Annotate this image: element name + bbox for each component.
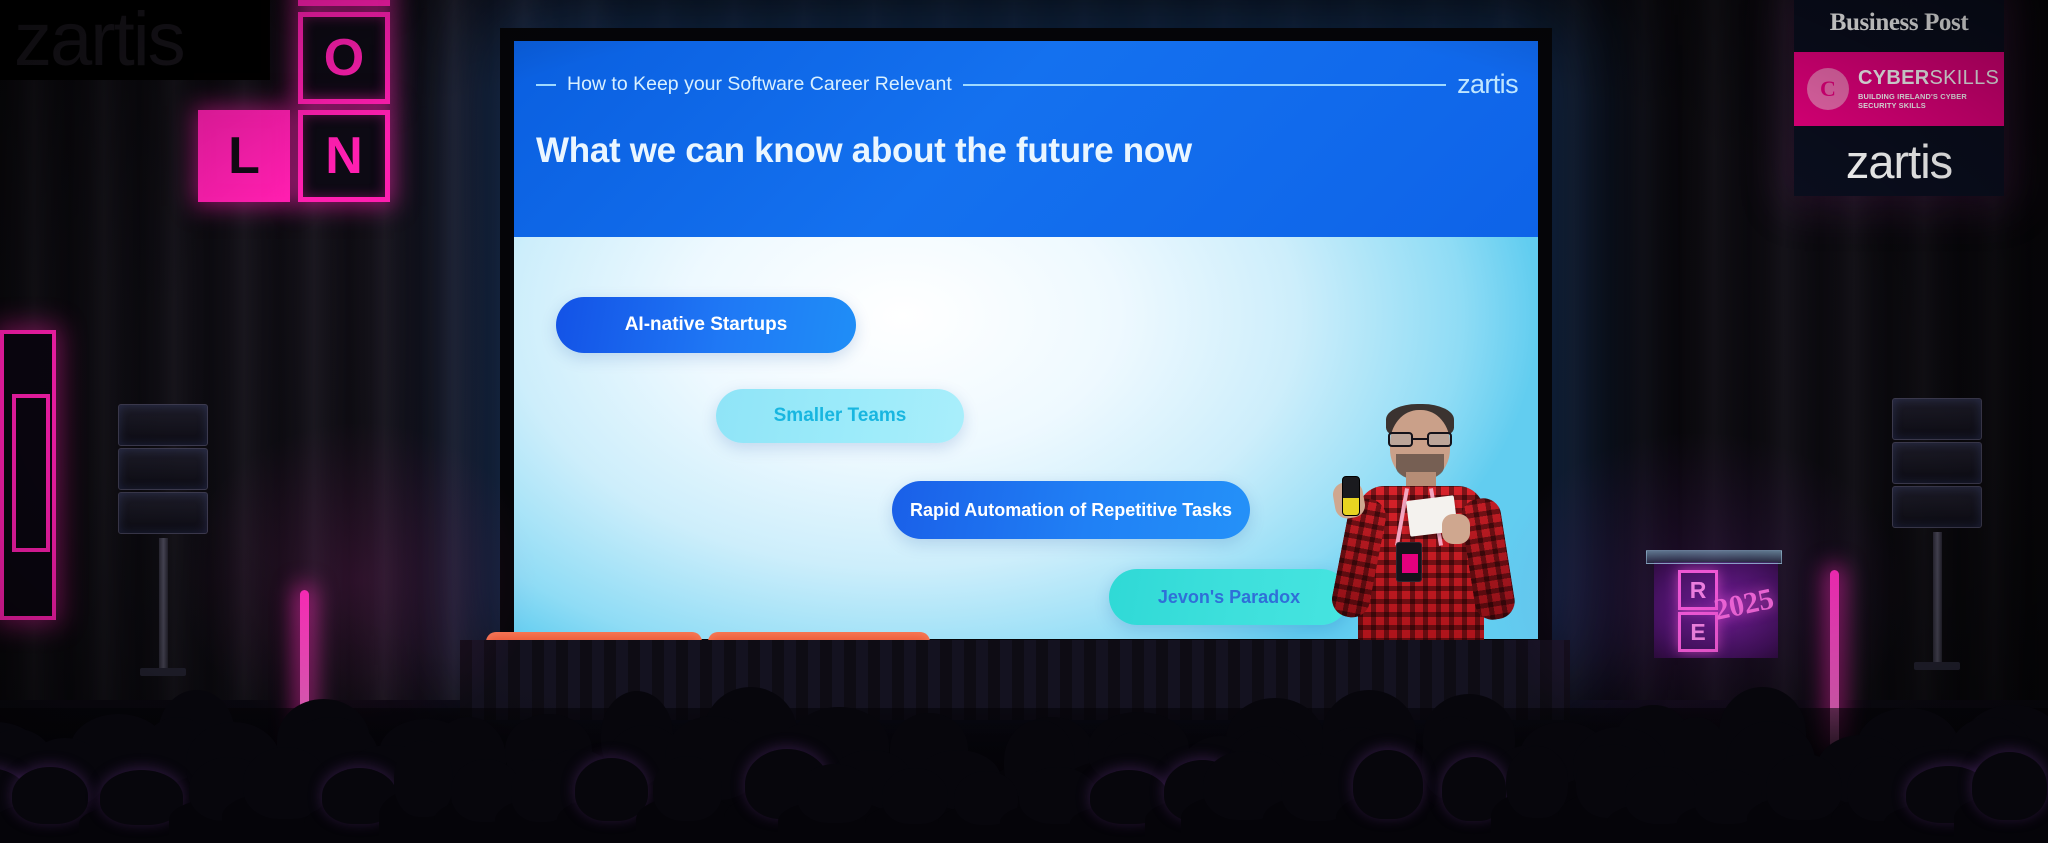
zartis-banner-wordmark: zartis xyxy=(1846,138,1952,185)
audience-member xyxy=(12,767,88,824)
slide-pill-ai-native-startups: AI-native Startups xyxy=(556,297,856,353)
stage-scene: zartis G O L N Business Post C xyxy=(0,0,2048,843)
audience-member xyxy=(882,768,949,824)
cyberskills-panel: C CYBERSKILLS BUILDING IRELAND'S CYBER S… xyxy=(1794,52,2004,126)
glasses-icon xyxy=(1388,432,1452,447)
audience-member xyxy=(243,747,328,819)
pink-grid-sign: G O L N xyxy=(180,0,410,200)
cyberskills-name-light: SKILLS xyxy=(1930,67,2000,89)
slide-header: How to Keep your Software Career Relevan… xyxy=(514,41,1538,237)
cyberskills-shield-icon: C xyxy=(1807,68,1849,110)
header-dash-icon xyxy=(536,84,556,86)
business-post-label: Business Post xyxy=(1830,9,1969,37)
audience-member xyxy=(653,756,722,821)
cyberskills-wordmark: CYBERSKILLS xyxy=(1858,68,1999,89)
audience xyxy=(0,613,2048,843)
slide-pill-rapid-automation: Rapid Automation of Repetitive Tasks xyxy=(892,481,1250,539)
presentation-clicker xyxy=(1342,476,1360,516)
audience-member xyxy=(394,740,453,817)
slide-pill-smaller-teams: Smaller Teams xyxy=(716,389,964,443)
audience-member xyxy=(575,758,648,822)
conference-badge xyxy=(1396,542,1422,582)
cyberskills-tagline: BUILDING IRELAND'S CYBER SECURITY SKILLS xyxy=(1858,92,1999,110)
zartis-banner-panel: zartis xyxy=(1794,126,2004,196)
shield-letter: C xyxy=(1820,76,1836,102)
slide-brand-zartis: zartis xyxy=(1457,69,1518,100)
presenter-right-hand xyxy=(1442,514,1470,544)
sponsor-banner: Business Post C CYBERSKILLS BUILDING IRE… xyxy=(1794,0,2004,196)
slide-header-row: How to Keep your Software Career Relevan… xyxy=(536,69,1518,100)
header-rule-divider xyxy=(963,84,1446,86)
audience-member xyxy=(1766,754,1842,820)
grid-sign-letter-o: O xyxy=(298,12,390,104)
audience-member xyxy=(1353,750,1423,819)
audience-member xyxy=(1506,746,1568,818)
grid-sign-letter-n: N xyxy=(298,110,390,202)
cyberskills-name-bold: CYBER xyxy=(1858,67,1930,89)
grid-sign-letter-l: L xyxy=(198,110,290,202)
business-post-panel: Business Post xyxy=(1794,0,2004,52)
audience-member xyxy=(1972,752,2047,820)
left-pink-light-panel xyxy=(0,330,56,620)
grid-sign-letter-g: G xyxy=(298,0,390,6)
slide-title: What we can know about the future now xyxy=(536,131,1192,171)
audience-member xyxy=(797,764,872,823)
slide-kicker: How to Keep your Software Career Relevan… xyxy=(567,73,952,96)
